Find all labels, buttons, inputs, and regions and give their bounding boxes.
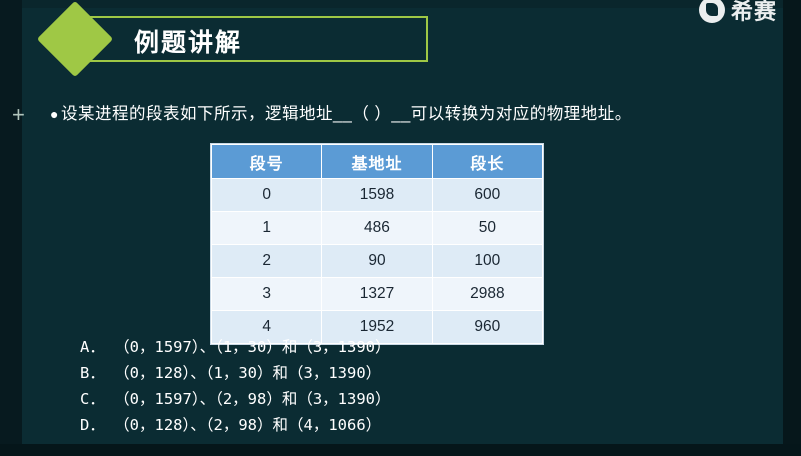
table-cell: 486 <box>322 212 432 245</box>
question-body: 设某进程的段表如下所示，逻辑地址__（ ）__可以转换为对应的物理地址。 <box>61 105 632 123</box>
table-cell: 1327 <box>322 278 432 311</box>
segment-table: 段号 基地址 段长 0 1598 600 1 486 50 2 <box>211 144 543 344</box>
table-header-row: 段号 基地址 段长 <box>212 145 543 179</box>
table-cell: 1598 <box>322 179 432 212</box>
table-row: 3 1327 2988 <box>212 278 543 311</box>
table-row: 0 1598 600 <box>212 179 543 212</box>
table-cell: 600 <box>432 179 542 212</box>
right-edge-bar <box>783 0 801 456</box>
table-cell: 100 <box>432 245 542 278</box>
table-header-cell: 段长 <box>432 145 542 179</box>
table-row: 2 90 100 <box>212 245 543 278</box>
table-header-cell: 段号 <box>212 145 322 179</box>
top-strip <box>0 0 801 8</box>
question-text: ●设某进程的段表如下所示，逻辑地址__（ ）__可以转换为对应的物理地址。 <box>50 100 632 124</box>
table-cell: 90 <box>322 245 432 278</box>
option-b: B． （0，128）、（1，30）和（3，1390） <box>80 360 390 386</box>
left-edge-bar <box>0 0 22 456</box>
answer-options: A． （0，1597）、（1，30）和（3，1390） B． （0，128）、（… <box>80 334 390 438</box>
table-cell: 50 <box>432 212 542 245</box>
bottom-edge-bar <box>0 444 801 456</box>
segment-table-wrapper: 段号 基地址 段长 0 1598 600 1 486 50 2 <box>210 143 544 345</box>
bullet-icon: ● <box>50 106 59 122</box>
watermark-text: 希赛 <box>731 0 777 26</box>
table-cell: 0 <box>212 179 322 212</box>
option-a: A． （0，1597）、（1，30）和（3，1390） <box>80 334 390 360</box>
logo-circle-icon <box>699 0 725 23</box>
diamond-icon <box>37 1 113 77</box>
plus-icon: + <box>12 104 25 126</box>
slide-canvas: 希赛 例题讲解 + ●设某进程的段表如下所示，逻辑地址__（ ）__可以转换为对… <box>0 0 801 456</box>
option-c: C． （0，1597）、（2，98）和（3，1390） <box>80 386 390 412</box>
table-cell: 960 <box>432 311 542 344</box>
table-cell: 2988 <box>432 278 542 311</box>
table-header-cell: 基地址 <box>322 145 432 179</box>
watermark-logo: 希赛 <box>699 0 777 26</box>
table-cell: 2 <box>212 245 322 278</box>
table-row: 1 486 50 <box>212 212 543 245</box>
title-block: 例题讲解 <box>48 10 434 66</box>
table-cell: 1 <box>212 212 322 245</box>
page-title: 例题讲解 <box>134 23 242 59</box>
table-cell: 3 <box>212 278 322 311</box>
option-d: D． （0，128）、（2，98）和（4，1066） <box>80 412 390 438</box>
